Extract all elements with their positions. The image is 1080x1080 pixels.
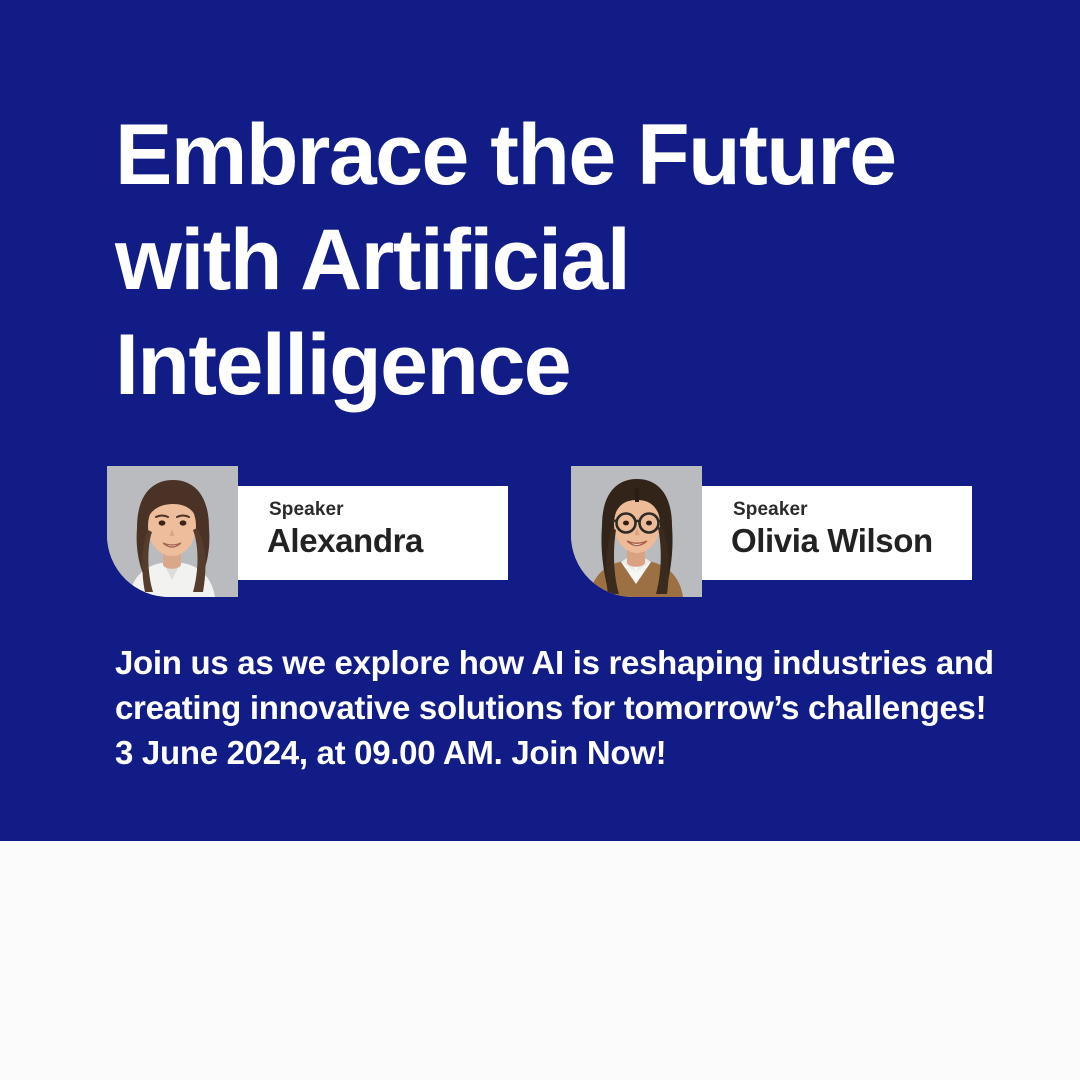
speaker-name-plate: Speaker Alexandra: [238, 486, 508, 580]
event-description: Join us as we explore how AI is reshapin…: [115, 640, 995, 775]
speaker-card[interactable]: Speaker Olivia Wilson: [571, 466, 972, 598]
avatar: [571, 466, 702, 597]
speaker-list: Speaker Alexandra: [0, 466, 1080, 598]
footer-section: Capcut Free Registration! Follow our soc…: [0, 841, 1080, 1080]
speaker-role-label: Speaker: [733, 499, 808, 521]
speaker-role-label: Speaker: [269, 499, 344, 521]
speaker-card[interactable]: Speaker Alexandra: [107, 466, 508, 598]
speaker-name: Alexandra: [267, 522, 423, 560]
poster-canvas: Embrace the Future with Artificial Intel…: [0, 0, 1080, 1080]
hero-section: Embrace the Future with Artificial Intel…: [0, 0, 1080, 841]
page-title: Embrace the Future with Artificial Intel…: [115, 103, 1015, 418]
speaker-name: Olivia Wilson: [731, 522, 933, 560]
speaker-name-plate: Speaker Olivia Wilson: [702, 486, 972, 580]
avatar: [107, 466, 238, 597]
